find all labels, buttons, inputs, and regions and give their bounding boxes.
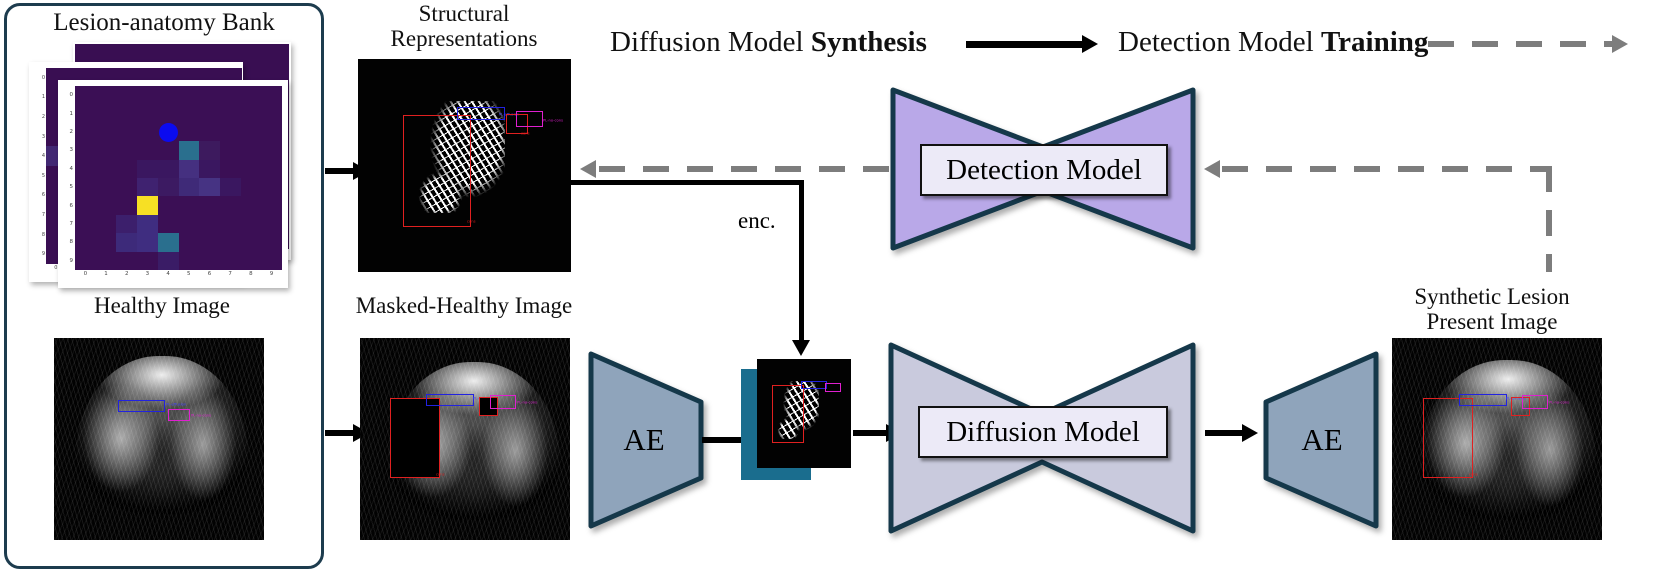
- encoder-ae-label-wrap: AE: [587, 350, 705, 530]
- structural-bbox-red2-label: cons: [521, 131, 530, 136]
- synthesis-arrow-shaft: [966, 41, 1084, 48]
- training-arrow-head: [1612, 35, 1628, 53]
- synthetic-bbox-blue: [1459, 394, 1507, 406]
- healthy-image: PL-effusion PL-no-cons: [54, 338, 264, 540]
- feedback-synthetic-vertical-dash: [1546, 166, 1552, 272]
- heatmap-mid-y-ticks: 0123456789: [29, 68, 45, 264]
- feedback-synthetic-to-detection-head: [1204, 160, 1220, 178]
- heatmap-grid-front: [75, 86, 282, 270]
- healthy-bbox-blue: [118, 400, 165, 412]
- synthetic-bbox-red-label: cons: [1469, 472, 1478, 477]
- healthy-ultrasound-fan: [76, 356, 248, 514]
- masked-healthy-title: Masked-Healthy Image: [340, 294, 588, 319]
- arrow-bank-to-structural-shaft: [325, 168, 355, 174]
- arrow-diffusion-to-decoder-head: [1242, 424, 1258, 442]
- structural-representation-image: cons PL-effusion PL-no-cons cons: [358, 59, 571, 272]
- encoder-ae-label: AE: [623, 422, 664, 458]
- arrow-latent-to-diffusion-shaft: [853, 430, 889, 436]
- structural-bbox-red-label: cons: [467, 219, 476, 224]
- synthetic-lesion-image: cons PL-effusion PL-no-cons: [1392, 338, 1602, 540]
- training-arrow-dash: [1428, 41, 1614, 47]
- latent-image[interactable]: [757, 359, 851, 468]
- enc-arrow-vertical: [799, 180, 804, 342]
- healthy-image-title: Healthy Image: [42, 294, 282, 319]
- header-training-bold: Training: [1321, 26, 1428, 58]
- latent-bbox-magenta: [825, 383, 841, 392]
- synthetic-bbox-red: [1423, 398, 1473, 478]
- synthetic-title-line2: Present Image: [1372, 310, 1612, 335]
- structural-bbox-magenta-label: PL-no-cons: [543, 118, 563, 123]
- line-encoder-to-latent: [702, 437, 746, 443]
- decoder-ae-label-wrap: AE: [1262, 350, 1380, 530]
- latent-bbox-red: [772, 385, 804, 443]
- enc-arrow-horizontal: [571, 180, 804, 185]
- decoder-ae-label: AE: [1301, 422, 1342, 458]
- masked-bbox-red-label: cons: [436, 472, 445, 477]
- detection-model-label-box: Detection Model: [920, 144, 1168, 196]
- structural-bbox-blue: [457, 107, 505, 120]
- healthy-bbox-magenta: [168, 409, 190, 421]
- healthy-bbox-blue-label: PL-effusion: [166, 402, 186, 407]
- masked-bbox-magenta-label: PL-no-cons: [517, 400, 537, 405]
- diffusion-model-label-box: Diffusion Model: [918, 406, 1168, 458]
- heatmap-front-x-ticks: 0123456789: [75, 271, 282, 283]
- header-synthesis-bold: Synthesis: [811, 26, 927, 58]
- masked-bbox-blue: [426, 394, 474, 406]
- feedback-synthetic-to-detection-dash: [1222, 166, 1552, 172]
- header-training: Detection Model Training: [1118, 27, 1468, 58]
- latent-bbox-blue: [801, 381, 827, 389]
- healthy-bbox-magenta-label: PL-no-cons: [191, 413, 211, 418]
- enc-arrow-head: [792, 340, 810, 356]
- header-training-normal: Detection Model: [1118, 26, 1321, 58]
- diffusion-model-label: Diffusion Model: [946, 416, 1140, 449]
- heatmap-front-y-ticks: 0123456789: [58, 86, 73, 270]
- masked-healthy-image: cons PL-effusion PL-no-cons: [360, 338, 570, 540]
- masked-bbox-red: [390, 398, 440, 478]
- feedback-detection-to-structural-dash: [599, 166, 891, 172]
- synthetic-bbox-magenta: [1522, 395, 1548, 409]
- structural-title-line2: Representations: [350, 27, 578, 52]
- bank-title: Lesion-anatomy Bank: [14, 9, 314, 36]
- structural-title-line1: Structural: [350, 2, 578, 27]
- decoder-ae-shape[interactable]: AE: [1262, 350, 1380, 530]
- synthesis-arrow-head: [1082, 35, 1098, 53]
- header-synthesis: Diffusion Model Synthesis: [610, 27, 960, 58]
- encoder-ae-shape[interactable]: AE: [587, 350, 705, 530]
- synthetic-title: Synthetic Lesion Present Image: [1372, 285, 1612, 335]
- structural-title: Structural Representations: [350, 2, 578, 52]
- synthetic-title-line1: Synthetic Lesion: [1372, 285, 1612, 310]
- enc-label: enc.: [738, 208, 776, 234]
- arrow-diffusion-to-decoder-shaft: [1205, 430, 1245, 436]
- synthetic-bbox-magenta-label: PL-no-cons: [1549, 400, 1569, 405]
- masked-bbox-magenta: [490, 395, 516, 409]
- lesion-marker-dot: [159, 123, 178, 142]
- arrow-healthy-to-masked-shaft: [325, 430, 355, 436]
- detection-model-label: Detection Model: [946, 154, 1142, 187]
- feedback-detection-to-structural-head: [580, 160, 596, 178]
- header-synthesis-normal: Diffusion Model: [610, 26, 811, 58]
- structural-bbox-magenta: [516, 111, 543, 127]
- structural-bbox-red: [403, 115, 471, 227]
